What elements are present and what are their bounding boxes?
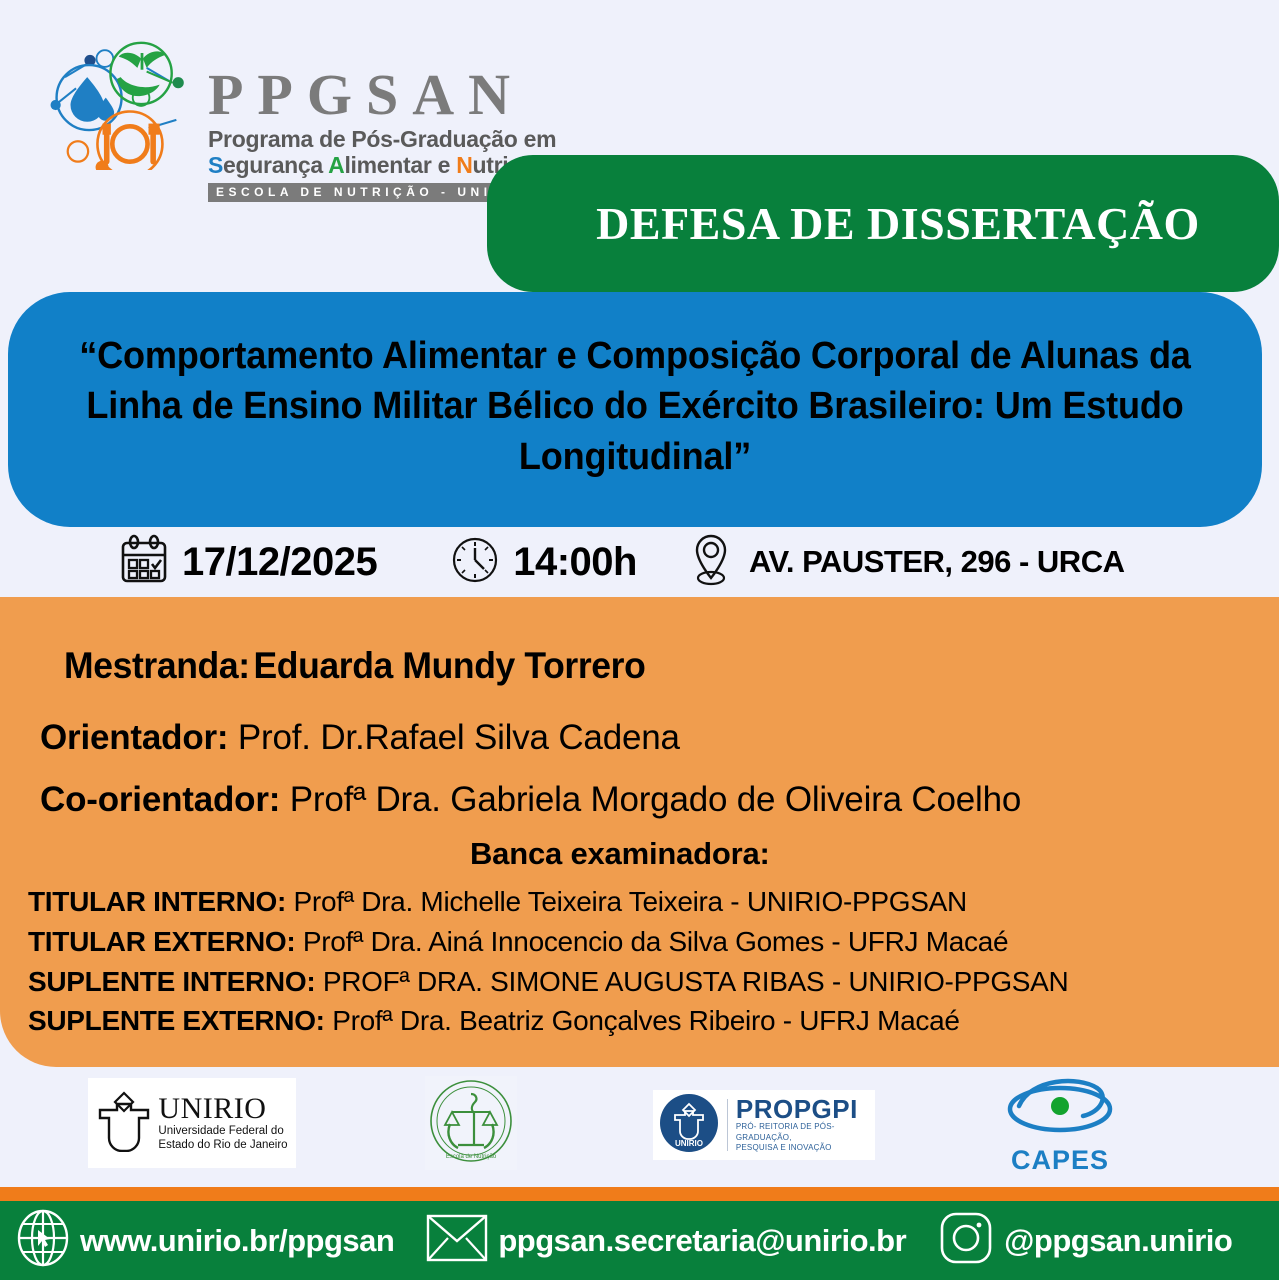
capes-name: CAPES <box>1011 1145 1109 1176</box>
propgpi-wordmark: PROPGPI PRÓ- REITORIA DE PÓS-GRADUAÇÃO, … <box>736 1096 869 1153</box>
coorientador-label: Co-orientador: <box>40 780 280 819</box>
mestranda-label: Mestranda: <box>64 645 250 686</box>
thesis-title-banner: “Comportamento Alimentar e Composição Co… <box>8 292 1262 527</box>
footer-orange-strip <box>0 1187 1279 1201</box>
event-date-value: 17/12/2025 <box>182 540 377 585</box>
banca-role: SUPLENTE EXTERNO: <box>28 1005 325 1036</box>
event-date: 17/12/2025 <box>118 534 377 591</box>
unirio-wordmark: UNIRIO Universidade Federal do Estado do… <box>158 1094 287 1153</box>
ppgsan-s: S <box>208 152 223 178</box>
ppgsan-a: A <box>328 152 344 178</box>
event-place: AV. PAUSTER, 296 - URCA <box>685 532 1125 593</box>
unirio-sub-line1: Universidade Federal do <box>158 1124 287 1138</box>
propgpi-badge-label: UNIRIO <box>675 1139 703 1148</box>
footer-website[interactable]: www.unirio.br/ppgsan <box>80 1223 394 1259</box>
footer-instagram[interactable]: @ppgsan.unirio <box>1004 1223 1232 1259</box>
calendar-icon <box>118 534 170 591</box>
coorientador-line: Co-orientador: Profª Dra. Gabriela Morga… <box>40 774 1230 827</box>
banca-name: PROFª DRA. SIMONE AUGUSTA RIBAS - UNIRIO… <box>323 966 1069 997</box>
envelope-icon <box>426 1213 488 1268</box>
banca-name: Profª Dra. Beatriz Gonçalves Ribeiro - U… <box>332 1005 959 1036</box>
banca-row: SUPLENTE EXTERNO: Profª Dra. Beatriz Gon… <box>28 1001 1258 1041</box>
map-pin-icon <box>685 532 737 593</box>
escola-nutricao-seal-icon: Escola de Nutrição <box>428 1078 514 1169</box>
event-info-row: 17/12/2025 14:00h <box>0 528 1279 596</box>
orientador-label: Orientador: <box>40 718 228 757</box>
banca-title: Banca examinadora: <box>470 836 770 872</box>
propgpi-badge-icon: UNIRIO <box>659 1093 719 1158</box>
propgpi-name: PROPGPI <box>736 1096 869 1122</box>
mestranda-name: Eduarda Mundy Torrero <box>253 645 645 686</box>
ppgsan-seguranca: egurança <box>223 152 328 178</box>
ppgsan-logo-mark <box>36 40 196 170</box>
banca-row: TITULAR INTERNO: Profª Dra. Michelle Tei… <box>28 882 1258 922</box>
banca-role: SUPLENTE INTERNO: <box>28 966 315 997</box>
globe-icon <box>16 1208 70 1273</box>
defense-banner-label: DEFESA DE DISSERTAÇÃO <box>596 197 1200 250</box>
unirio-name: UNIRIO <box>158 1092 266 1125</box>
footer-contact-bar: www.unirio.br/ppgsan ppgsan.secretaria@u… <box>0 1201 1279 1280</box>
propgpi-sub-line2: PESQUISA E INOVAÇÃO <box>736 1143 869 1153</box>
propgpi-divider <box>727 1099 728 1151</box>
banca-name: Profª Dra. Michelle Teixeira Teixeira - … <box>294 886 967 917</box>
orientador-line: Orientador: Prof. Dr.Rafael Silva Cadena <box>40 718 1240 758</box>
propgpi-sub-line1: PRÓ- REITORIA DE PÓS-GRADUAÇÃO, <box>736 1122 869 1143</box>
escola-nutricao-logo: Escola de Nutrição <box>425 1076 517 1170</box>
mestranda-line: Mestranda:Eduarda Mundy Torrero <box>64 645 645 687</box>
banca-name: Profª Dra. Ainá Innocencio da Silva Gome… <box>303 926 1008 957</box>
banca-row: TITULAR EXTERNO: Profª Dra. Ainá Innocen… <box>28 922 1258 962</box>
ppgsan-alimentar: limentar e <box>344 152 456 178</box>
banca-role: TITULAR EXTERNO: <box>28 926 295 957</box>
unirio-sub-line2: Estado do Rio de Janeiro <box>158 1138 287 1152</box>
unirio-logo: UNIRIO Universidade Federal do Estado do… <box>88 1078 296 1168</box>
escola-nutricao-text: Escola de Nutrição <box>446 1154 497 1160</box>
unirio-emblem-icon <box>96 1090 152 1157</box>
ppgsan-school-strip: ESCOLA DE NUTRIÇÃO - UNIRIO <box>208 183 532 202</box>
capes-logo: CAPES <box>1000 1078 1120 1174</box>
instagram-icon <box>938 1210 994 1271</box>
ppgsan-n: N <box>456 152 472 178</box>
footer-email[interactable]: ppgsan.secretaria@unirio.br <box>498 1223 906 1259</box>
orientador-name: Prof. Dr.Rafael Silva Cadena <box>238 718 680 757</box>
clock-icon <box>449 534 501 591</box>
event-time-value: 14:00h <box>513 540 637 585</box>
thesis-title-text: “Comportamento Alimentar e Composição Co… <box>77 331 1192 483</box>
coorientador-name: Profª Dra. Gabriela Morgado de Oliveira … <box>290 780 1021 819</box>
banca-role: TITULAR INTERNO: <box>28 886 286 917</box>
ppgsan-subtitle-line1: Programa de Pós-Graduação em <box>208 126 573 153</box>
capes-emblem-icon <box>1001 1076 1119 1143</box>
defense-banner: DEFESA DE DISSERTAÇÃO <box>487 155 1279 292</box>
event-time: 14:00h <box>449 534 637 591</box>
banca-list: TITULAR INTERNO: Profª Dra. Michelle Tei… <box>28 882 1258 1041</box>
propgpi-logo: UNIRIO PROPGPI PRÓ- REITORIA DE PÓS-GRAD… <box>653 1090 875 1160</box>
banca-row: SUPLENTE INTERNO: PROFª DRA. SIMONE AUGU… <box>28 962 1258 1002</box>
ppgsan-acronym: PPGSAN <box>208 66 573 124</box>
event-place-value: AV. PAUSTER, 296 - URCA <box>749 544 1125 580</box>
